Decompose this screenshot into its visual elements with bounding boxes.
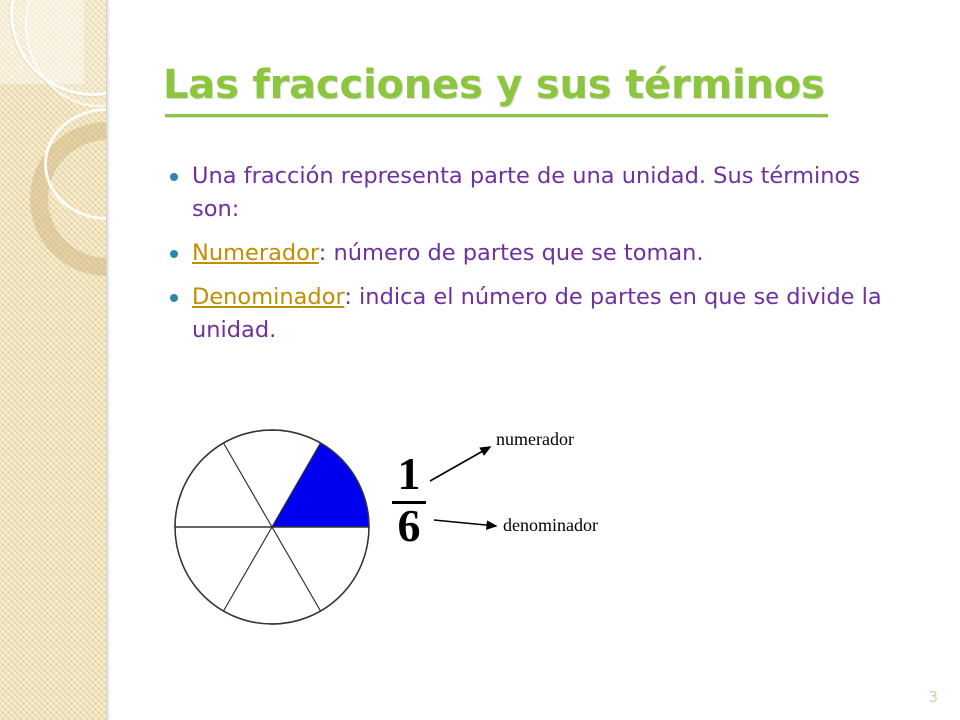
bullet-body: : número de partes que se toman. <box>319 240 704 266</box>
arrow-to-numerador <box>430 447 490 481</box>
pie-chart-svg <box>170 425 375 630</box>
term-numerador: Numerador <box>192 240 319 266</box>
bullet-text: Una fracción representa parte de una uni… <box>192 160 900 226</box>
pie-chart-diagram <box>170 425 375 630</box>
list-item: Denominador: indica el número de partes … <box>170 281 900 347</box>
bullet-text: Numerador: número de partes que se toman… <box>192 237 900 270</box>
fraction-callout: 1 6 numerador denominador <box>378 423 633 563</box>
term-denominador: Denominador <box>192 284 344 310</box>
label-denominador: denominador <box>503 515 598 536</box>
arrow-to-denominador <box>434 520 496 526</box>
bullet-dot-icon <box>170 250 178 258</box>
slide-title: Las fracciones y sus términos <box>163 62 863 108</box>
fraction-figure: 1 6 numerador denominador <box>170 415 640 645</box>
decorative-sidebar <box>0 0 106 720</box>
bullet-list: Una fracción representa parte de una uni… <box>170 160 900 358</box>
slide-canvas: Las fracciones y sus términos Una fracci… <box>0 0 960 720</box>
sidebar-edge-divider <box>106 0 110 720</box>
bullet-dot-icon <box>170 294 178 302</box>
bullet-dot-icon <box>170 173 178 181</box>
list-item: Una fracción representa parte de una uni… <box>170 160 900 226</box>
bullet-body: Una fracción representa parte de una uni… <box>192 163 860 222</box>
bullet-text: Denominador: indica el número de partes … <box>192 281 900 347</box>
page-number: 3 <box>928 688 938 706</box>
title-underline <box>165 114 828 117</box>
list-item: Numerador: número de partes que se toman… <box>170 237 900 270</box>
label-numerador: numerador <box>496 429 574 450</box>
